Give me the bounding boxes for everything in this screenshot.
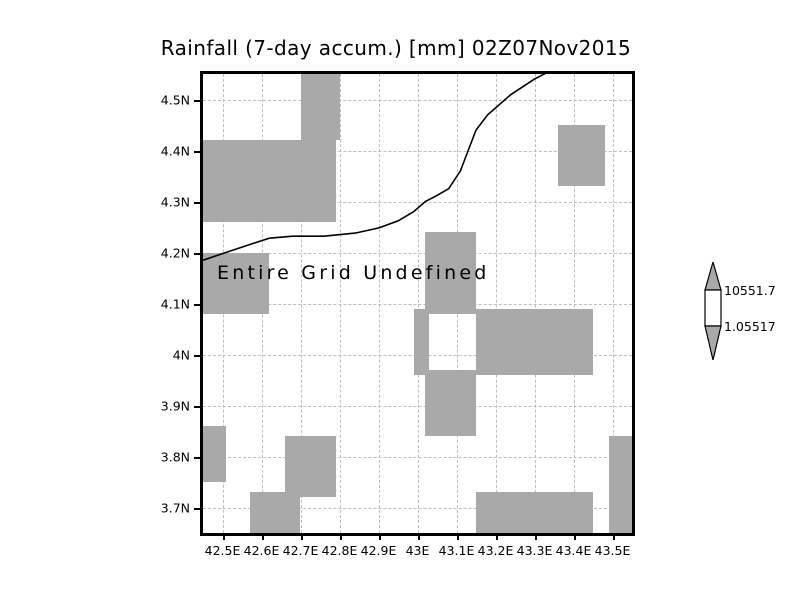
y-axis-tick-label: 3.7N xyxy=(145,500,190,515)
x-axis-tick xyxy=(535,534,537,540)
y-axis-tick-label: 3.9N xyxy=(145,398,190,413)
x-axis-tick xyxy=(340,534,342,540)
y-axis-tick xyxy=(194,406,201,408)
colorbar-upper-label: 10551.7 xyxy=(724,283,776,298)
y-axis-tick xyxy=(194,253,201,255)
y-axis-tick xyxy=(194,202,201,204)
colorbar-graphic xyxy=(700,262,726,360)
colorbar-middle-band xyxy=(705,290,721,326)
x-axis-tick xyxy=(574,534,576,540)
colorbar-bottom-cap xyxy=(705,326,721,360)
x-axis-tick xyxy=(223,534,225,540)
x-axis-tick-label: 42.8E xyxy=(322,543,358,558)
colorbar-lower-label: 1.05517 xyxy=(724,319,776,334)
coastline-overlay xyxy=(203,74,632,533)
plot-clip: Entire Grid Undefined xyxy=(203,74,632,533)
y-axis-tick-label: 4N xyxy=(145,347,190,362)
y-axis-tick-label: 3.8N xyxy=(145,449,190,464)
x-axis-tick xyxy=(418,534,420,540)
x-axis-tick xyxy=(496,534,498,540)
y-axis-tick xyxy=(194,100,201,102)
y-axis-tick xyxy=(194,508,201,510)
grads-plot-canvas: Rainfall (7-day accum.) [mm] 02Z07Nov201… xyxy=(0,0,792,612)
shaded-colorbar[interactable]: 10551.7 1.05517 xyxy=(700,262,726,360)
y-axis-tick-label: 4.3N xyxy=(145,194,190,209)
y-axis-tick-label: 4.2N xyxy=(145,245,190,260)
x-axis-tick-label: 43.1E xyxy=(439,543,475,558)
coastline-path xyxy=(203,74,546,260)
x-axis-tick xyxy=(301,534,303,540)
page-title: Rainfall (7-day accum.) [mm] 02Z07Nov201… xyxy=(0,36,792,60)
y-axis-tick-label: 4.1N xyxy=(145,296,190,311)
y-axis-tick xyxy=(194,151,201,153)
colorbar-top-cap xyxy=(705,262,721,290)
x-axis-tick xyxy=(262,534,264,540)
entire-grid-undefined-message: Entire Grid Undefined xyxy=(217,262,489,284)
x-axis-tick xyxy=(457,534,459,540)
y-axis-tick-label: 4.4N xyxy=(145,143,190,158)
x-axis-tick xyxy=(613,534,615,540)
plot-area: Entire Grid Undefined xyxy=(200,71,635,536)
x-axis-tick-label: 43.4E xyxy=(556,543,592,558)
y-axis-tick xyxy=(194,457,201,459)
x-axis-tick xyxy=(379,534,381,540)
x-axis-tick-label: 42.7E xyxy=(283,543,319,558)
x-axis-tick-label: 43.2E xyxy=(478,543,514,558)
x-axis-tick-label: 42.9E xyxy=(361,543,397,558)
y-axis-tick xyxy=(194,355,201,357)
x-axis-tick-label: 43.3E xyxy=(517,543,553,558)
x-axis-tick-label: 43.5E xyxy=(595,543,631,558)
y-axis-tick-label: 4.5N xyxy=(145,92,190,107)
x-axis-tick-label: 42.6E xyxy=(244,543,280,558)
x-axis-tick-label: 42.5E xyxy=(205,543,241,558)
y-axis-tick xyxy=(194,304,201,306)
x-axis-tick-label: 43E xyxy=(406,543,430,558)
